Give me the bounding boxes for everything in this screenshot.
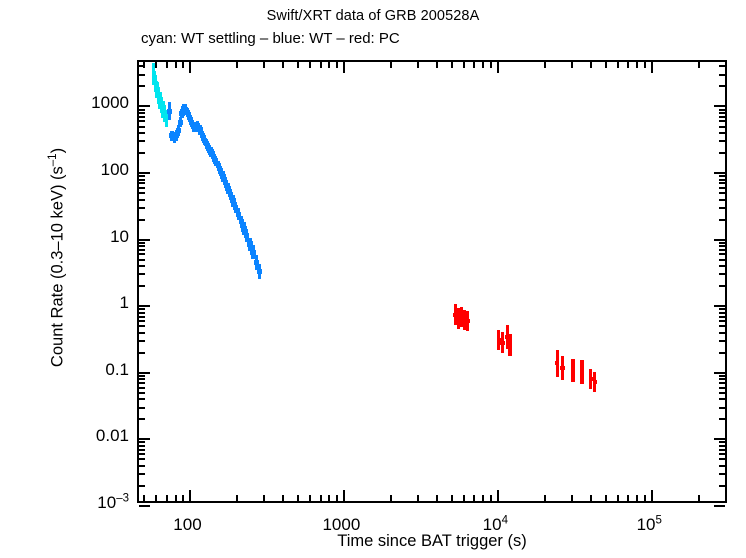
y-tick-label: 0.1 [59,360,129,380]
xrt-lightcurve-figure: Swift/XRT data of GRB 200528A cyan: WT s… [0,0,746,558]
major-tick [714,505,725,507]
data-point-marker [178,120,183,125]
y-tick-label: 10–3 [59,493,129,513]
data-point-marker [580,370,584,374]
data-point-marker [555,361,559,365]
data-point-marker [571,368,575,372]
chart-subtitle-legend: cyan: WT settling – blue: WT – red: PC [141,30,400,47]
plot-frame [137,60,727,503]
data-point-marker [257,269,262,274]
data-point-marker [593,380,597,384]
y-tick-label: 10 [59,227,129,247]
y-tick-label: 1000 [59,93,129,113]
data-point-marker [508,343,512,347]
data-point-marker [176,128,181,133]
data-point-marker [167,109,172,114]
data-point-marker [465,319,469,323]
y-tick-label: 0.01 [59,426,129,446]
y-axis-title: Count Rate (0.3–10 keV) (s–1) [49,78,68,438]
y-tick-label: 1 [59,293,129,313]
y-tick-label: 100 [59,160,129,180]
x-axis-title: Time since BAT trigger (s) [137,532,727,551]
data-point-marker [560,366,564,370]
data-point-marker [500,341,504,345]
data-points-layer [139,62,729,505]
chart-title: Swift/XRT data of GRB 200528A [0,8,746,24]
major-tick [139,505,150,507]
